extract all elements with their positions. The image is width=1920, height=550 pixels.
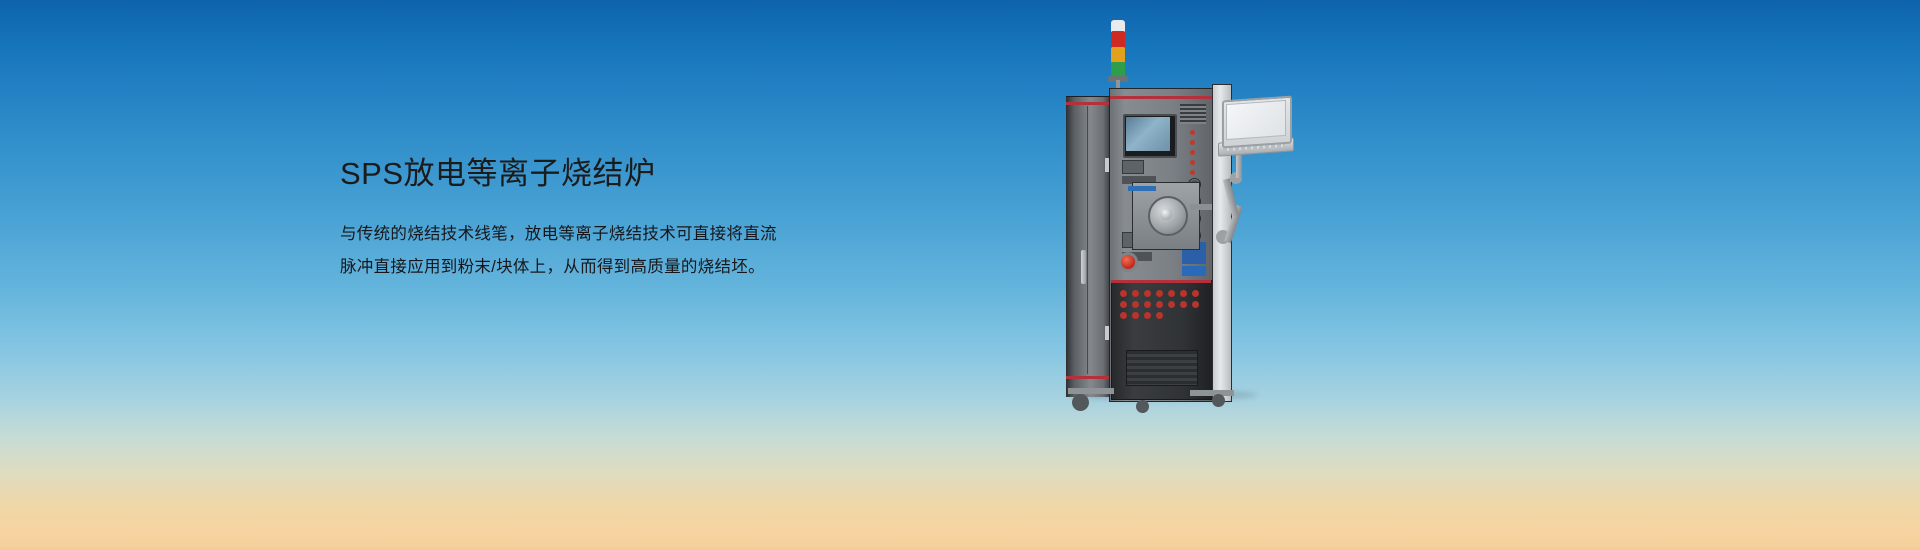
indicator-light-column <box>1186 130 1200 176</box>
tower-light-amber-icon <box>1111 47 1125 63</box>
cabinet-left-door-seam <box>1087 106 1088 374</box>
control-display-screen <box>1126 117 1170 151</box>
port-dot <box>1168 301 1175 308</box>
port-dot <box>1132 301 1139 308</box>
cabinet-left-accent-stripe-bottom <box>1066 376 1110 379</box>
hero-text-block: SPS放电等离子烧结炉 与传统的烧结技术线笔，放电等离子烧结技术可直接将直流 脉… <box>340 152 880 284</box>
port-dot <box>1144 290 1151 297</box>
port-dot <box>1144 312 1151 319</box>
ventilation-grille-icon <box>1180 104 1206 124</box>
control-plate-upper <box>1122 160 1144 174</box>
base-rail-left <box>1068 388 1114 394</box>
indicator-dot <box>1190 160 1195 165</box>
port-dot <box>1156 290 1163 297</box>
port-dot <box>1120 290 1127 297</box>
port-dot <box>1156 312 1163 319</box>
chamber-side-fitting <box>1190 204 1212 210</box>
chamber-blue-trim <box>1128 186 1156 191</box>
port-dot <box>1156 301 1163 308</box>
cabinet-left-door <box>1066 96 1110 397</box>
sps-furnace-illustration <box>1040 18 1300 418</box>
hero-description-line-1: 与传统的烧结技术线笔，放电等离子烧结技术可直接将直流 <box>340 218 880 251</box>
base-rail-right <box>1190 390 1234 396</box>
caster-wheel-center <box>1136 400 1149 413</box>
lower-vent-hatch <box>1126 350 1198 386</box>
cabinet-lower-accent-stripe <box>1111 280 1211 283</box>
laptop-screen <box>1226 100 1286 140</box>
background-gradient <box>0 0 1920 550</box>
port-dot <box>1132 312 1139 319</box>
indicator-dot <box>1190 130 1195 135</box>
indicator-dot <box>1190 140 1195 145</box>
product-hero-banner: SPS放电等离子烧结炉 与传统的烧结技术线笔，放电等离子烧结技术可直接将直流 脉… <box>0 0 1920 550</box>
emergency-stop-button-icon <box>1121 255 1135 269</box>
blue-label-plate-secondary <box>1182 266 1206 276</box>
page-title: SPS放电等离子烧结炉 <box>340 152 880 196</box>
port-dot <box>1180 301 1187 308</box>
port-dot <box>1120 301 1127 308</box>
cabinet-left-door-handle <box>1081 250 1086 284</box>
port-dot <box>1120 312 1127 319</box>
hero-description: 与传统的烧结技术线笔，放电等离子烧结技术可直接将直流 脉冲直接应用到粉末/块体上… <box>340 218 880 284</box>
port-dot <box>1144 301 1151 308</box>
port-dot <box>1192 290 1199 297</box>
hero-description-line-2: 脉冲直接应用到粉末/块体上，从而得到高质量的烧结坯。 <box>340 251 880 284</box>
port-dot <box>1168 290 1175 297</box>
tower-light-red-icon <box>1111 31 1125 48</box>
tower-light-green-icon <box>1111 62 1125 77</box>
chamber-viewport-hub <box>1160 208 1172 220</box>
cabinet-left-accent-stripe-top <box>1066 102 1110 105</box>
indicator-dot <box>1190 150 1195 155</box>
port-dot <box>1180 290 1187 297</box>
port-dot <box>1192 301 1199 308</box>
caster-wheel-right <box>1212 394 1225 407</box>
port-dot <box>1132 290 1139 297</box>
red-port-matrix <box>1120 290 1202 316</box>
caster-wheel-left <box>1072 394 1089 411</box>
indicator-dot <box>1190 170 1195 175</box>
cabinet-front-accent-stripe <box>1110 96 1212 99</box>
